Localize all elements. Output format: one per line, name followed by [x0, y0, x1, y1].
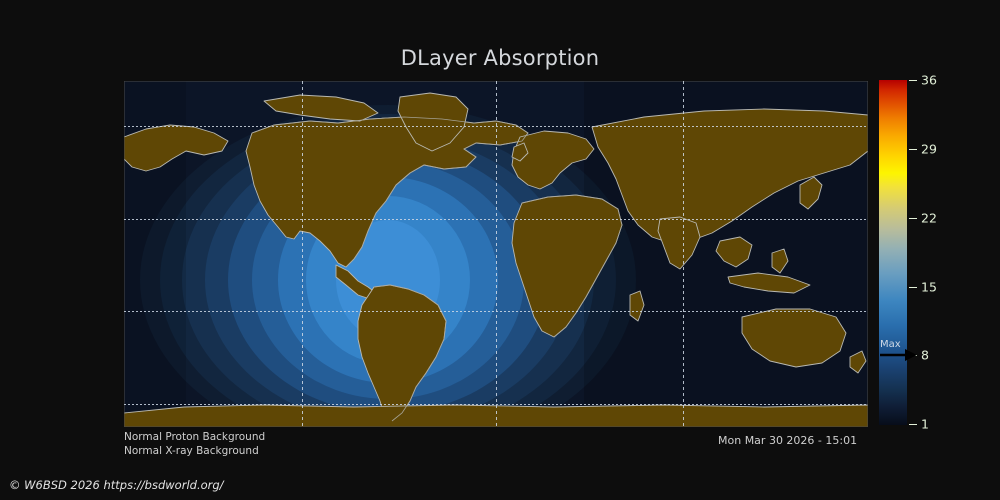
proton-status-text: Normal Proton Background: [124, 431, 265, 443]
gridline-latitude: [124, 311, 868, 312]
colorbar-tick: [909, 424, 917, 425]
plot-root: DLayer Absorption: [0, 0, 1000, 500]
colorbar-tick-label: 1: [921, 417, 929, 432]
colorbar-tick-label: 8: [921, 348, 929, 363]
map-canvas: [124, 81, 868, 427]
colorbar-tick: [909, 80, 917, 81]
xray-status-text: Normal X-ray Background: [124, 445, 259, 457]
gridline-longitude: [302, 81, 303, 427]
copyright-footer: © W6BSD 2026 https://bsdworld.org/: [9, 478, 224, 492]
colorbar-tick: [909, 355, 917, 356]
page-title: DLayer Absorption: [0, 46, 1000, 70]
colorbar: [879, 80, 907, 425]
gridline-longitude: [683, 81, 684, 427]
colorbar-axis-label: Affected Frequency (MHz): [932, 80, 1000, 425]
colorbar-tick: [909, 149, 917, 150]
colorbar-tick: [909, 287, 917, 288]
gridline-latitude: [124, 126, 868, 127]
gridline-longitude: [496, 81, 497, 427]
timestamp-text: Mon Mar 30 2026 - 15:01: [718, 434, 857, 447]
gridline-latitude: [124, 219, 868, 220]
colorbar-tick: [909, 218, 917, 219]
gridline-latitude: [124, 404, 868, 405]
